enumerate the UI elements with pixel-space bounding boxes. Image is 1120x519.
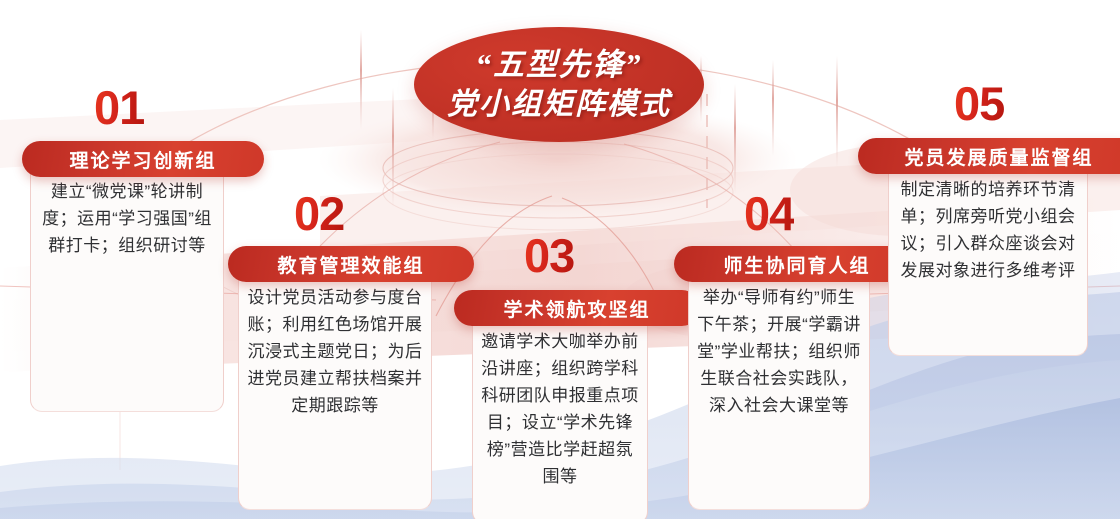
card-number-05: 05 — [954, 80, 1004, 127]
card-title-pill-02[interactable]: 教育管理效能组 — [228, 246, 474, 282]
card-body-03: 邀请学术大咖举办前沿讲座；组织跨学科科研团队申报重点项目；设立“学术先锋榜”营造… — [481, 328, 639, 490]
infographic-canvas: “五型先锋” 党小组矩阵模式 01 理论学习创新组 建立“微党课”轮讲制度；运用… — [0, 0, 1120, 519]
card-panel-04: 举办“导师有约”师生下午茶；开展“学霸讲堂”学业帮扶；组织师生联合社会实践队，深… — [688, 270, 870, 510]
card-body-02: 设计党员活动参与度台账；利用红色场馆开展沉浸式主题党日；为后进党员建立帮扶档案并… — [247, 284, 423, 419]
center-title-badge: “五型先锋” 党小组矩阵模式 — [414, 27, 704, 142]
card-panel-05: 制定清晰的培养环节清单；列席旁听党小组会议；引入群众座谈会对发展对象进行多维考评 — [888, 162, 1088, 356]
center-title-line1: “五型先锋” — [476, 45, 643, 85]
card-panel-02: 设计党员活动参与度台账；利用红色场馆开展沉浸式主题党日；为后进党员建立帮扶档案并… — [238, 270, 432, 510]
card-panel-03: 邀请学术大咖举办前沿讲座；组织跨学科科研团队申报重点项目；设立“学术先锋榜”营造… — [472, 314, 648, 519]
center-title-line2: 党小组矩阵模式 — [447, 85, 671, 125]
card-number-03: 03 — [524, 232, 574, 279]
card-body-01: 建立“微党课”轮讲制度；运用“学习强国”组群打卡；组织研讨等 — [39, 178, 215, 259]
card-body-05: 制定清晰的培养环节清单；列席旁听党小组会议；引入群众座谈会对发展对象进行多维考评 — [897, 176, 1079, 284]
card-title-pill-05[interactable]: 党员发展质量监督组 — [858, 138, 1120, 174]
card-title-pill-03[interactable]: 学术领航攻坚组 — [454, 290, 700, 326]
card-number-01: 01 — [94, 84, 144, 131]
card-title-pill-01[interactable]: 理论学习创新组 — [22, 141, 264, 177]
card-panel-01: 建立“微党课”轮讲制度；运用“学习强国”组群打卡；组织研讨等 — [30, 164, 224, 412]
card-number-02: 02 — [294, 190, 344, 237]
card-title-pill-04[interactable]: 师生协同育人组 — [674, 246, 920, 282]
card-number-04: 04 — [744, 190, 794, 237]
card-body-04: 举办“导师有约”师生下午茶；开展“学霸讲堂”学业帮扶；组织师生联合社会实践队，深… — [697, 284, 861, 419]
